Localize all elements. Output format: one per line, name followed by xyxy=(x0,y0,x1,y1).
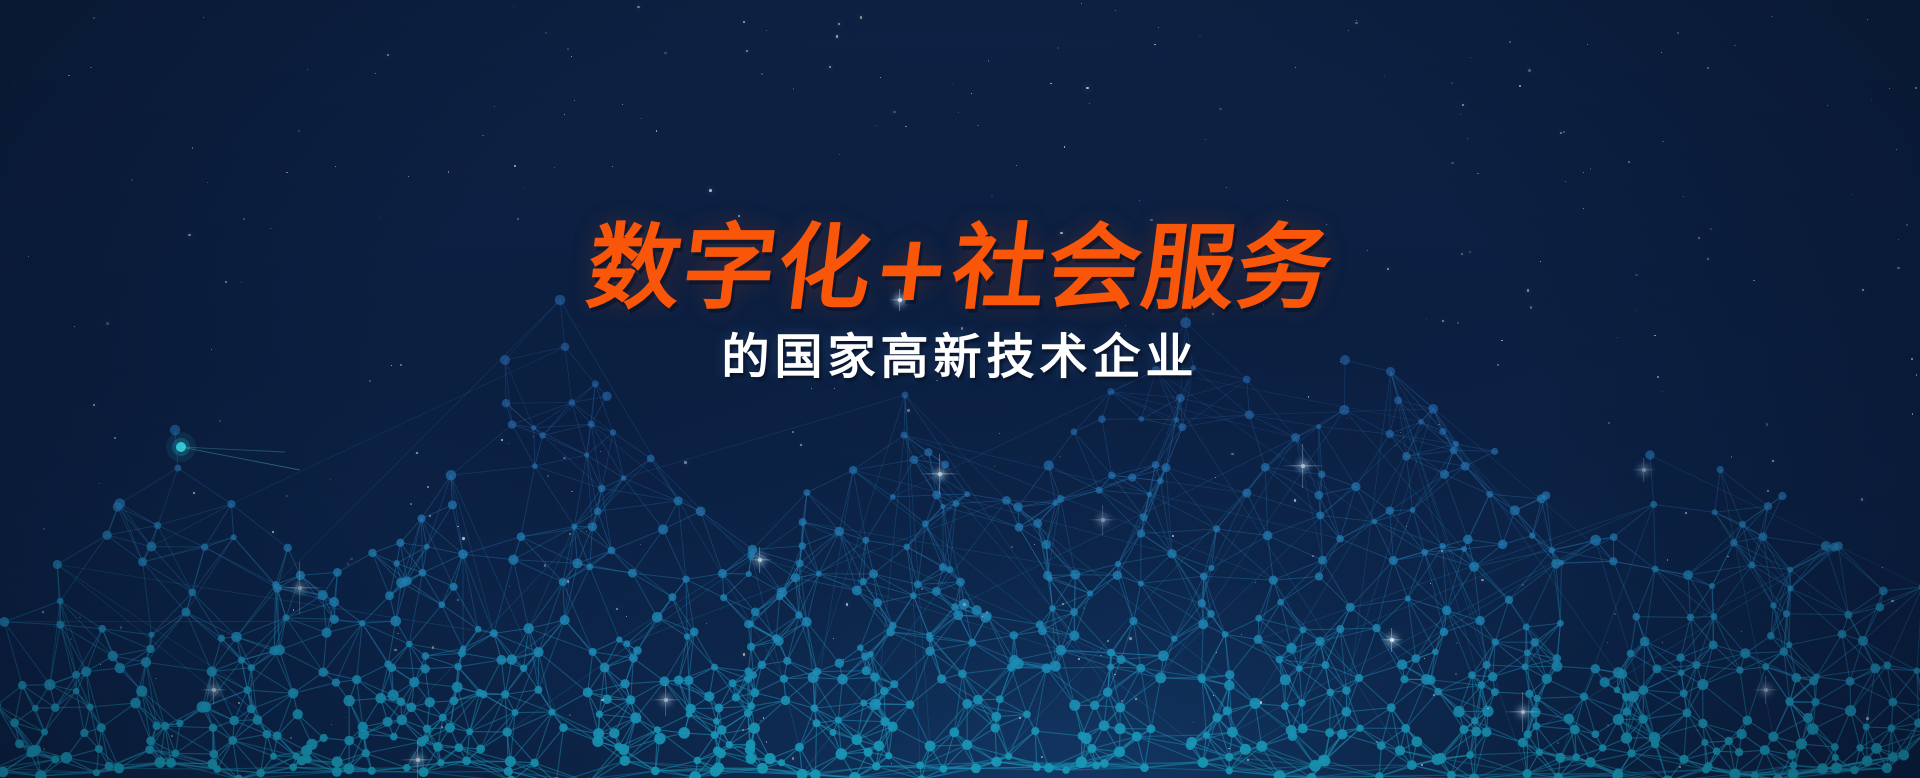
hero-subtitle: 的国家高新技术企业 xyxy=(0,331,1920,384)
hero-text-block: 数字化+社会服务 的国家高新技术企业 xyxy=(0,222,1920,384)
hero-headline: 数字化+社会服务 xyxy=(582,222,1338,315)
background-gradient xyxy=(0,0,1920,778)
hero-banner: 数字化+社会服务 的国家高新技术企业 xyxy=(0,0,1920,778)
